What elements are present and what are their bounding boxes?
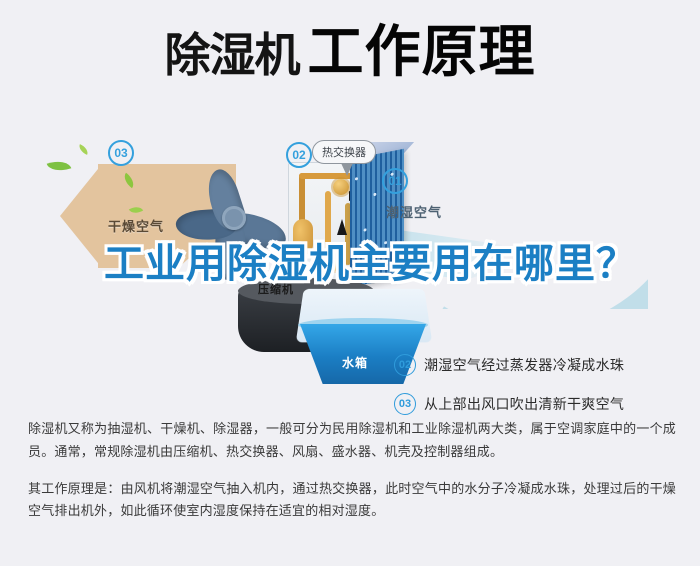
leaf-icon bbox=[77, 144, 90, 155]
step-text: 潮湿空气经过蒸发器冷凝成水珠 bbox=[424, 355, 624, 375]
humid-air-label: 潮湿空气 bbox=[386, 202, 442, 221]
body-paragraph-1: 除湿机又称为抽湿机、干燥机、除湿器，一般可分为民用除湿机和工业除湿机两大类，属于… bbox=[28, 418, 676, 464]
list-item: 03 从上部出风口吹出清新干爽空气 bbox=[394, 393, 694, 415]
body-paragraph-2: 其工作原理是：由风机将潮湿空气抽入机内，通过热交换器，此时空气中的水分子冷凝成水… bbox=[28, 478, 676, 524]
diagram-badge-01: 01 bbox=[382, 168, 408, 194]
infographic-page: 除湿机工作原理 干燥空气 bbox=[0, 0, 700, 566]
page-title: 除湿机工作原理 bbox=[0, 24, 700, 80]
list-item: 02 潮湿空气经过蒸发器冷凝成水珠 bbox=[394, 354, 694, 376]
title-small-text: 除湿机 bbox=[165, 29, 300, 81]
step-badge: 03 bbox=[394, 393, 416, 415]
overlay-headline: 工业用除湿机主要用在哪里？ bbox=[104, 242, 700, 286]
dry-air-label: 干燥空气 bbox=[108, 216, 164, 235]
step-badge: 02 bbox=[394, 354, 416, 376]
diagram-badge-03: 03 bbox=[108, 140, 134, 166]
diagram-badge-02: 02 bbox=[286, 142, 312, 168]
body-copy: 除湿机又称为抽湿机、干燥机、除湿器，一般可分为民用除湿机和工业除湿机两大类，属于… bbox=[28, 418, 676, 537]
step-text: 从上部出风口吹出清新干爽空气 bbox=[424, 394, 624, 414]
heat-exchanger-callout: 热交换器 bbox=[312, 140, 376, 164]
water-tank-label: 水箱 bbox=[342, 354, 368, 371]
title-big-text: 工作原理 bbox=[308, 20, 536, 83]
